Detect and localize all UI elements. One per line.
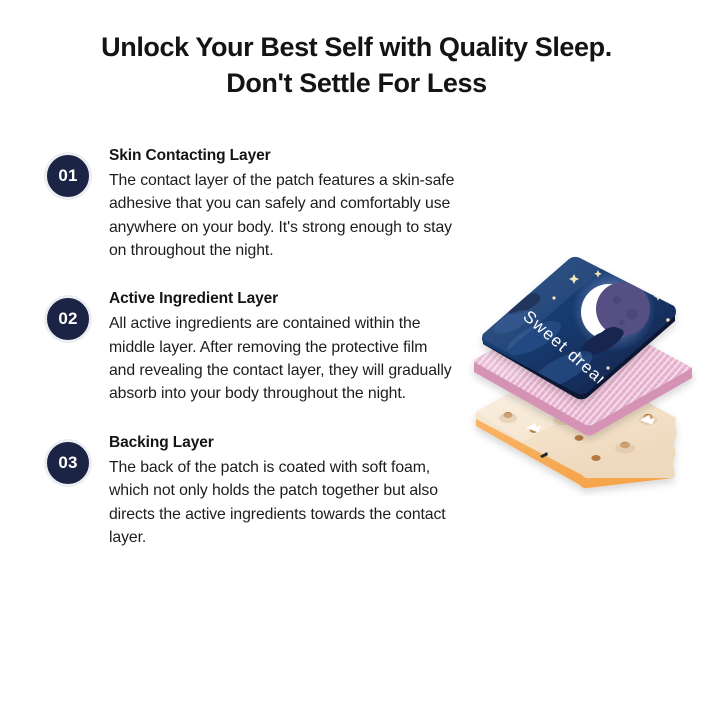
step-body: Skin Contacting Layer The contact layer …: [40, 146, 455, 262]
infographic-page: Unlock Your Best Self with Quality Sleep…: [0, 0, 713, 713]
patch-layers-illustration: Sweet dreams: [462, 252, 706, 496]
step-title: Skin Contacting Layer: [109, 146, 455, 167]
headline-line-1: Unlock Your Best Self with Quality Sleep…: [0, 30, 713, 66]
page-title: Unlock Your Best Self with Quality Sleep…: [0, 30, 713, 101]
list-item: 02 Active Ingredient Layer All active in…: [40, 289, 455, 405]
step-title: Backing Layer: [109, 433, 455, 454]
step-number-label: 01: [58, 166, 77, 186]
step-description: All active ingredients are contained wit…: [109, 312, 455, 406]
step-title: Active Ingredient Layer: [109, 289, 455, 310]
step-body: Backing Layer The back of the patch is c…: [40, 433, 455, 549]
list-item: 03 Backing Layer The back of the patch i…: [40, 433, 455, 549]
step-number-badge-03: 03: [44, 439, 92, 487]
step-number-label: 02: [58, 309, 77, 329]
step-number-label: 03: [58, 453, 77, 473]
headline-line-2: Don't Settle For Less: [0, 66, 713, 102]
step-description: The back of the patch is coated with sof…: [109, 456, 455, 550]
step-description: The contact layer of the patch features …: [109, 169, 455, 263]
step-body: Active Ingredient Layer All active ingre…: [40, 289, 455, 405]
steps-list: 01 Skin Contacting Layer The contact lay…: [40, 146, 455, 549]
list-item: 01 Skin Contacting Layer The contact lay…: [40, 146, 455, 262]
step-number-badge-01: 01: [44, 152, 92, 200]
